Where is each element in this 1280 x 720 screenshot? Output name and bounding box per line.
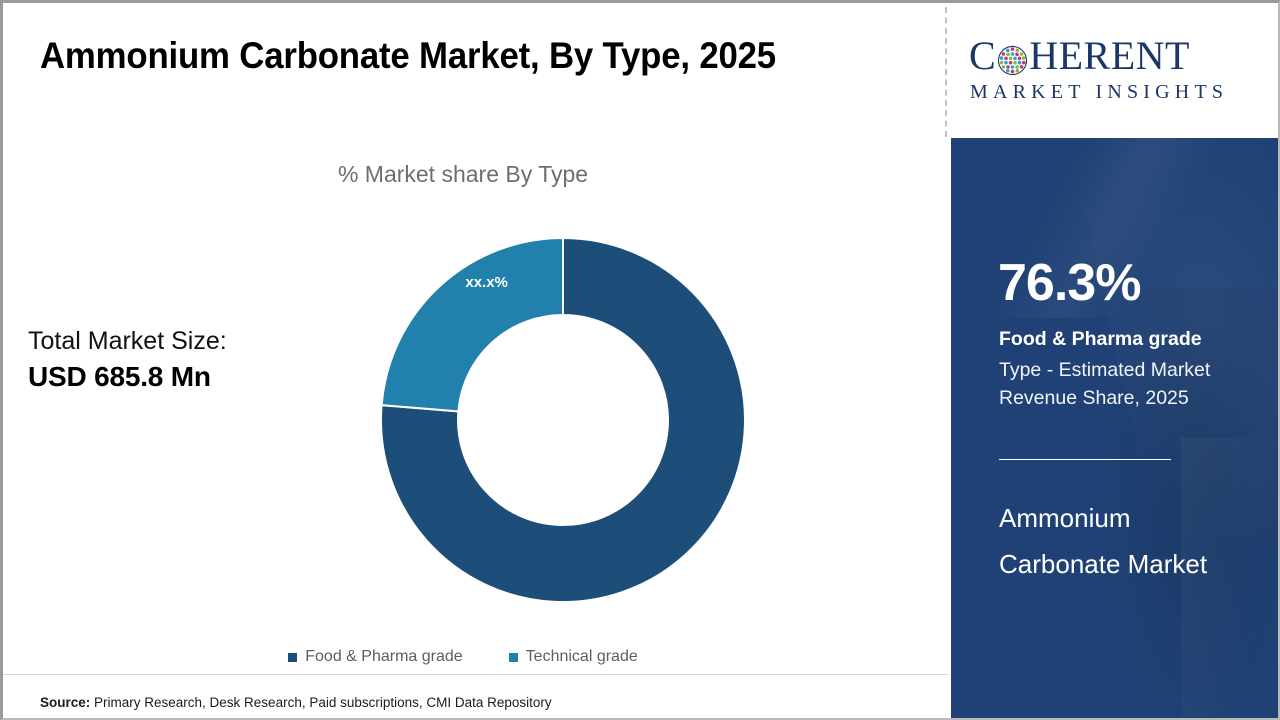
page-title: Ammonium Carbonate Market, By Type, 2025 [40,35,848,77]
stat-label-regular: Type - Estimated Market Revenue Share, 2… [999,356,1261,413]
stat-value: 76.3% [998,257,1140,309]
legend-item-food-pharma[interactable]: Food & Pharma grade [288,648,462,666]
infographic-root: Ammonium Carbonate Market, By Type, 2025… [0,0,1280,720]
brand-logo[interactable]: C [951,3,1280,138]
donut-slice [382,238,563,411]
main-chart-area: Ammonium Carbonate Market, By Type, 2025… [3,3,948,720]
panel-divider [999,459,1171,460]
legend-item-technical[interactable]: Technical grade [509,648,638,666]
stat-label-bold: Food & Pharma grade [999,328,1202,351]
vertical-dashed-divider [945,7,947,137]
source-text: Primary Research, Desk Research, Paid su… [90,695,551,710]
logo-tagline: MARKET INSIGHTS [970,81,1228,104]
globe-dots-icon [997,43,1028,74]
logo-wordmark-rest: HERENT [1029,36,1190,76]
total-market-size-block: Total Market Size: USD 685.8 Mn [28,325,328,395]
chart-legend: Food & Pharma grade Technical grade [3,648,923,666]
source-prefix: Source: [40,695,90,710]
chart-subtitle: % Market share By Type [3,161,923,188]
legend-swatch-icon [288,653,297,662]
legend-label: Technical grade [526,648,638,666]
panel-market-name: Ammonium Carbonate Market [999,496,1244,588]
legend-label: Food & Pharma grade [305,648,462,666]
total-market-size-value: USD 685.8 Mn [28,358,328,396]
highlight-panel: 76.3% Food & Pharma grade Type - Estimat… [951,138,1280,720]
slice-label-technical: xx.x% [465,274,508,291]
slice-label-food-pharma: 76.3% [664,590,707,602]
logo-letter-c: C [969,36,996,76]
donut-chart: 76.3% xx.x% [381,238,745,602]
total-market-size-label: Total Market Size: [28,325,328,358]
legend-swatch-icon [509,653,518,662]
donut-chart-svg: 76.3% xx.x% [381,238,745,602]
footer-divider [3,674,948,675]
source-line: Source: Primary Research, Desk Research,… [40,695,552,710]
right-sidebar: C [951,3,1280,720]
logo-wordmark: C [969,36,1190,76]
